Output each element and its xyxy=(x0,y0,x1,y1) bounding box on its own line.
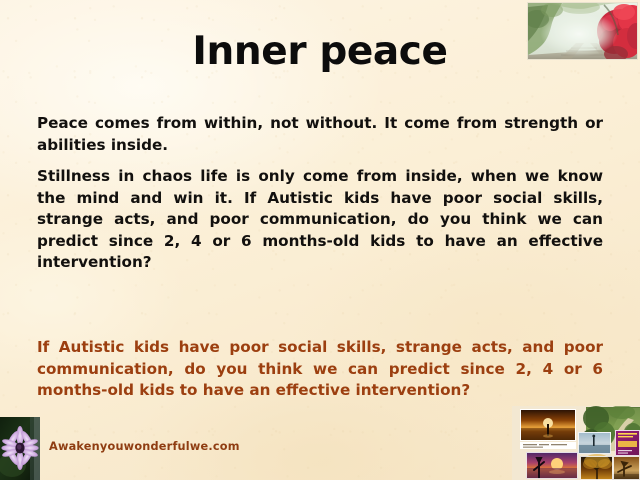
collage-photo xyxy=(512,406,640,480)
body-paragraph: Peace comes from within, not without. It… xyxy=(37,113,603,156)
slide-canvas: Inner peace Peace comes from within, not… xyxy=(0,0,640,480)
lavender-daisy-image xyxy=(0,417,40,480)
body-paragraph: Stillness in chaos life is only come fro… xyxy=(37,166,603,274)
image-collage xyxy=(512,406,640,480)
flower-logo-photo xyxy=(0,417,40,480)
highlight-paragraph: If Autistic kids have poor social skills… xyxy=(37,337,603,402)
misty-road-image xyxy=(528,3,638,60)
body-copy-block: Peace comes from within, not without. It… xyxy=(37,113,603,274)
misty-road-photo xyxy=(527,2,638,60)
highlight-copy-block: If Autistic kids have poor social skills… xyxy=(37,337,603,402)
website-label: Awakenyouwonderfulwe.com xyxy=(49,440,240,453)
